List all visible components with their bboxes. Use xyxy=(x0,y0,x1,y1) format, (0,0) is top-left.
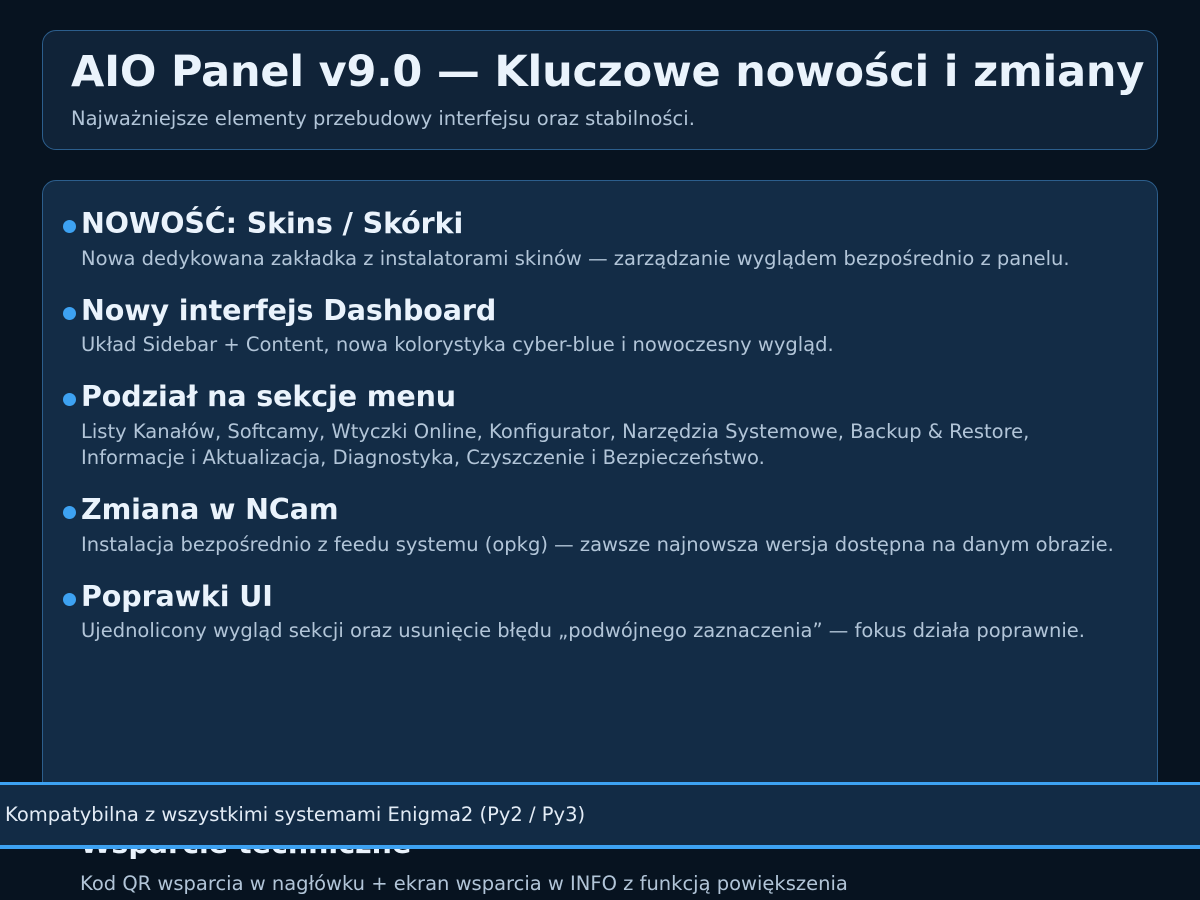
feature-description: Nowa dedykowana zakładka z instalatorami… xyxy=(81,246,1126,272)
feature-title: NOWOŚĆ: Skins / Skórki xyxy=(81,207,1133,242)
list-item[interactable]: Podział na sekcje menu Listy Kanałów, So… xyxy=(59,380,1133,471)
feature-description: Układ Sidebar + Content, nowa kolorystyk… xyxy=(81,332,1126,358)
feature-title: Wsparcie techniczne xyxy=(80,849,411,862)
page-title: AIO Panel v9.0 — Kluczowe nowości i zmia… xyxy=(71,49,1129,95)
dot-icon xyxy=(63,593,76,606)
list-item[interactable]: NOWOŚĆ: Skins / Skórki Nowa dedykowana z… xyxy=(59,207,1133,272)
feature-title: Nowy interfejs Dashboard xyxy=(81,294,1133,329)
dot-icon xyxy=(63,220,76,233)
page-subtitle: Najważniejsze elementy przebudowy interf… xyxy=(71,107,1129,130)
dot-icon xyxy=(63,393,76,406)
list-item[interactable]: Zmiana w NCam Instalacja bezpośrednio z … xyxy=(59,493,1133,558)
list-item[interactable]: Poprawki UI Ujednolicony wygląd sekcji o… xyxy=(59,580,1133,645)
feature-description: Ujednolicony wygląd sekcji oraz usunięci… xyxy=(81,618,1126,644)
compatibility-banner: Kompatybilna z wszystkimi systemami Enig… xyxy=(0,782,1200,849)
feature-list: NOWOŚĆ: Skins / Skórki Nowa dedykowana z… xyxy=(59,207,1133,644)
below-banner-region: Wsparcie techniczne Kod QR wsparcia w na… xyxy=(0,849,1200,900)
dot-icon xyxy=(63,307,76,320)
feature-description: Instalacja bezpośrednio z feedu systemu … xyxy=(81,532,1126,558)
header-card: AIO Panel v9.0 — Kluczowe nowości i zmia… xyxy=(42,30,1158,150)
feature-description: Kod QR wsparcia w nagłówku + ekran wspar… xyxy=(80,871,848,897)
feature-title: Poprawki UI xyxy=(81,580,1133,615)
dot-icon xyxy=(63,506,76,519)
feature-title: Podział na sekcje menu xyxy=(81,380,1133,415)
compatibility-banner-text: Kompatybilna z wszystkimi systemami Enig… xyxy=(0,803,585,826)
list-item[interactable]: Nowy interfejs Dashboard Układ Sidebar +… xyxy=(59,294,1133,359)
content-card: NOWOŚĆ: Skins / Skórki Nowa dedykowana z… xyxy=(42,180,1158,848)
feature-title: Zmiana w NCam xyxy=(81,493,1133,528)
feature-description: Listy Kanałów, Softcamy, Wtyczki Online,… xyxy=(81,419,1126,471)
